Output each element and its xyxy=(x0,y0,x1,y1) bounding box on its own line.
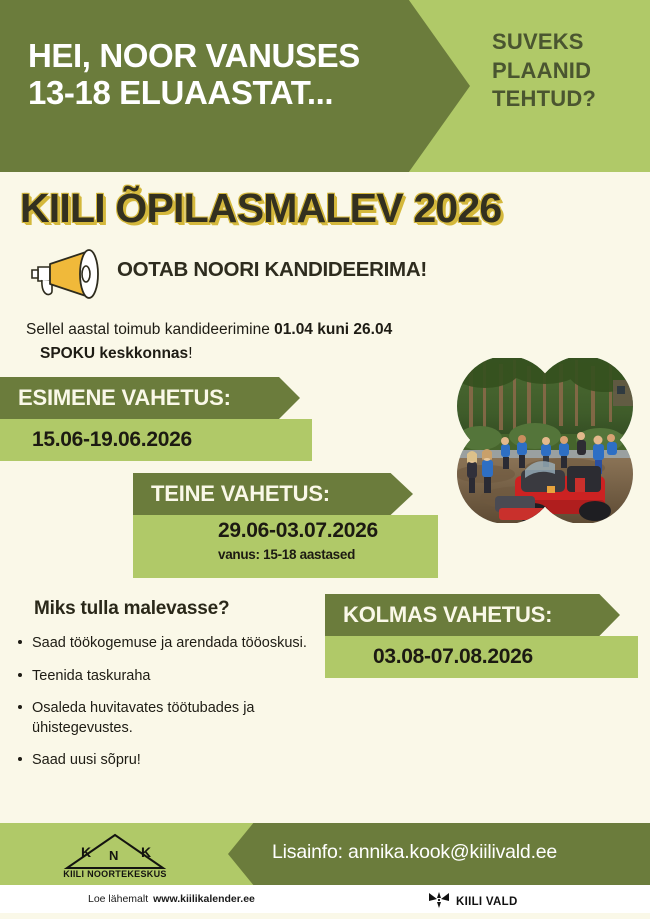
list-item: Teenida taskuraha xyxy=(14,667,334,687)
svg-text:K: K xyxy=(141,844,151,860)
list-item: Saad uusi sõpru! xyxy=(14,751,334,771)
shift-1-label: ESIMENE VAHETUS: xyxy=(18,385,231,411)
subtitle: OOTAB NOORI KANDIDEERIMA! xyxy=(117,258,427,282)
intro-line2-tail: ! xyxy=(188,345,192,362)
svg-text:K: K xyxy=(81,844,91,860)
header-banner: HEI, NOOR VANUSES 13-18 ELUAASTAT... SUV… xyxy=(0,0,650,172)
shift-2-dates: 29.06-03.07.2026 xyxy=(218,519,378,543)
list-item: Osaleda huvitavates töötubades ja ühiste… xyxy=(14,699,334,738)
footer-read-label: Loe lähemalt xyxy=(88,893,148,905)
why-benefits-list: Saad töökogemuse ja arendada tööoskusi. … xyxy=(14,634,334,784)
shift-2-label: TEINE VAHETUS: xyxy=(151,481,330,507)
kiili-vald-emblem-icon xyxy=(428,892,450,911)
header-question: SUVEKS PLAANID TEHTUD? xyxy=(492,28,642,114)
shift-1-dates: 15.06-19.06.2026 xyxy=(32,428,192,452)
poster-root: HEI, NOOR VANUSES 13-18 ELUAASTAT... SUV… xyxy=(0,0,650,919)
intro-line1-bold: 01.04 kuni 26.04 xyxy=(274,321,392,338)
shift-2-age-note: vanus: 15-18 aastased xyxy=(218,547,355,562)
shift-1-dates-bar: 15.06-19.06.2026 xyxy=(0,419,312,461)
footer-read-url[interactable]: www.kiilikalender.ee xyxy=(153,893,255,905)
why-section-title: Miks tulla malevasse? xyxy=(34,598,229,620)
page-title: KIILI ÕPILASMALEV 2026 xyxy=(20,188,501,229)
header-question-line1: SUVEKS xyxy=(492,28,642,57)
header-headline-line2: 13-18 ELUAASTAT... xyxy=(28,75,448,112)
shift-1-header: ESIMENE VAHETUS: xyxy=(0,377,300,419)
kiili-vald-label: KIILI VALD xyxy=(456,896,518,908)
svg-text:N: N xyxy=(109,848,118,863)
shift-2-header: TEINE VAHETUS: xyxy=(133,473,413,515)
shift-3-dates-bar: 03.08-07.08.2026 xyxy=(325,636,638,678)
header-headline-line1: HEI, NOOR VANUSES xyxy=(28,38,448,75)
header-question-line3: TEHTUD? xyxy=(492,85,642,114)
header-headline: HEI, NOOR VANUSES 13-18 ELUAASTAT... xyxy=(28,38,448,112)
shift-2-dates-bar: 29.06-03.07.2026 vanus: 15-18 aastased xyxy=(133,515,438,578)
shift-3-header: KOLMAS VAHETUS: xyxy=(325,594,620,636)
intro-line2-bold: SPOKU keskkonnas xyxy=(40,345,188,362)
svg-text:KIILI NOORTEKESKUS: KIILI NOORTEKESKUS xyxy=(63,869,166,878)
shift-3-label: KOLMAS VAHETUS: xyxy=(343,602,552,628)
footer-read-more: Loe lähemaltwww.kiilikalender.ee xyxy=(88,893,255,905)
header-question-line2: PLAANID xyxy=(492,57,642,86)
list-item: Saad töökogemuse ja arendada tööoskusi. xyxy=(14,634,334,654)
footer-bottom-edge xyxy=(0,913,650,919)
intro-line1-plain: Sellel aastal toimub kandideerimine xyxy=(26,321,274,338)
knk-logo: K N K KIILI NOORTEKESKUS xyxy=(55,832,175,878)
photo-clover xyxy=(455,358,635,523)
contact-email[interactable]: Lisainfo: annika.kook@kiilivald.ee xyxy=(272,841,557,864)
megaphone-icon xyxy=(24,247,116,299)
kiili-vald-logo: KIILI VALD xyxy=(428,892,518,911)
shift-3-dates: 03.08-07.08.2026 xyxy=(373,645,533,669)
